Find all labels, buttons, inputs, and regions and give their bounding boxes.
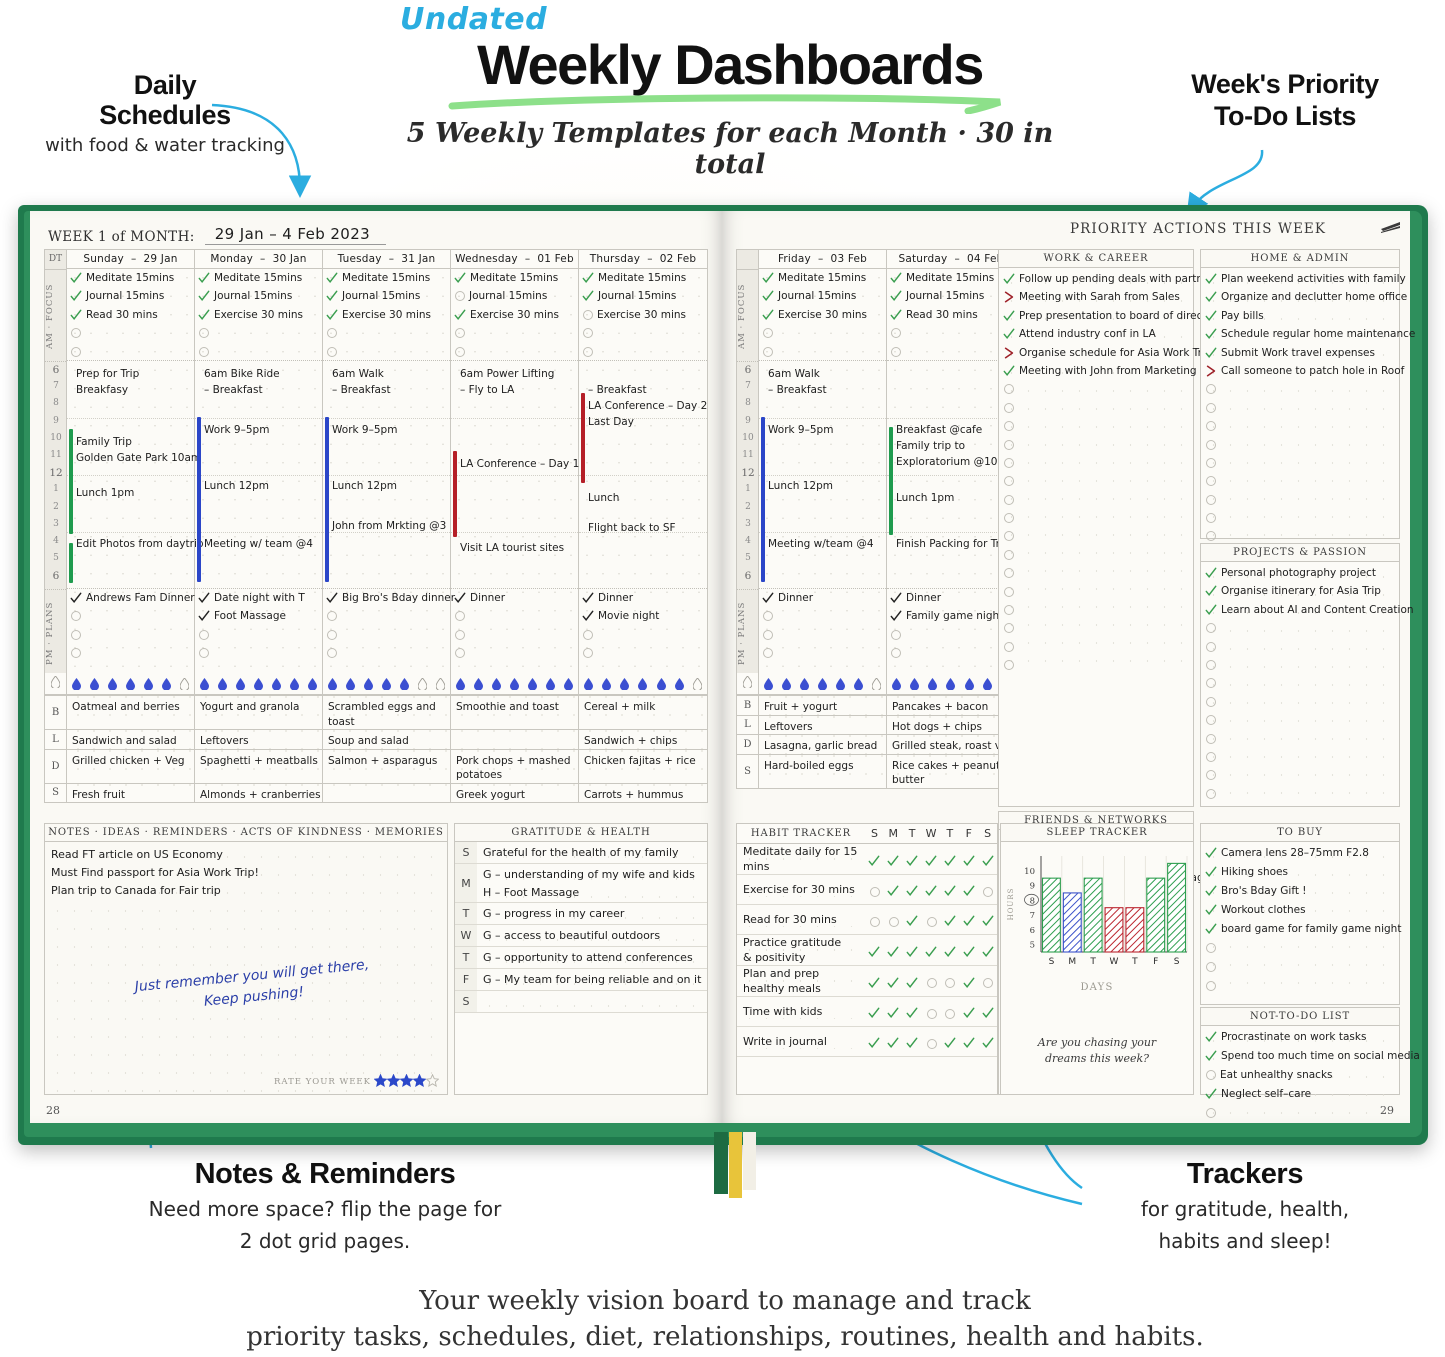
focus-item[interactable]: Journal 15mins bbox=[887, 287, 1015, 305]
empty-checkbox[interactable] bbox=[983, 887, 993, 897]
empty-checkbox[interactable] bbox=[1206, 660, 1216, 670]
empty-checkbox[interactable] bbox=[891, 648, 901, 658]
empty-checkbox[interactable] bbox=[945, 1009, 955, 1019]
gratitude-row[interactable]: W G – access to beautiful outdoors bbox=[455, 925, 707, 947]
water-drop-filled-icon[interactable] bbox=[162, 678, 171, 690]
habit-mark[interactable] bbox=[978, 1034, 997, 1049]
list-item[interactable]: Meeting with Sarah from Sales bbox=[999, 288, 1193, 306]
empty-checkbox[interactable] bbox=[1004, 440, 1014, 450]
list-item[interactable]: Neglect self–care bbox=[1201, 1085, 1399, 1104]
habit-mark[interactable] bbox=[903, 1034, 922, 1049]
habit-mark[interactable] bbox=[865, 943, 884, 958]
meal-cell[interactable]: Scrambled eggs and toast bbox=[323, 696, 451, 729]
habit-mark[interactable] bbox=[978, 912, 997, 927]
plan-item[interactable] bbox=[451, 607, 578, 625]
schedule-event[interactable]: Work 9–5pm bbox=[768, 423, 833, 438]
list-item[interactable] bbox=[1201, 977, 1399, 996]
empty-checkbox[interactable] bbox=[327, 347, 337, 357]
gratitude-text[interactable]: Grateful for the health of my family bbox=[477, 842, 707, 863]
schedule-event[interactable]: – Breakfast bbox=[332, 383, 391, 398]
focus-item[interactable]: Meditate 15mins bbox=[195, 269, 322, 287]
empty-checkbox[interactable] bbox=[583, 630, 593, 640]
list-item[interactable]: Follow up pending deals with partners bbox=[999, 270, 1193, 288]
empty-checkbox[interactable] bbox=[1206, 734, 1216, 744]
not-to-do-box[interactable]: NOT-TO-DO LIST Procrastinate on work tas… bbox=[1200, 1007, 1400, 1095]
empty-checkbox[interactable] bbox=[1004, 623, 1014, 633]
empty-checkbox[interactable] bbox=[1206, 752, 1216, 762]
empty-checkbox[interactable] bbox=[983, 978, 993, 988]
empty-checkbox[interactable] bbox=[1206, 962, 1216, 972]
list-item[interactable] bbox=[999, 472, 1193, 490]
list-item[interactable] bbox=[1201, 958, 1399, 977]
focus-item[interactable]: Journal 15mins bbox=[195, 287, 322, 305]
habit-mark[interactable] bbox=[940, 1034, 959, 1049]
water-drop-filled-icon[interactable] bbox=[602, 678, 611, 690]
empty-checkbox[interactable] bbox=[763, 611, 773, 621]
plan-item[interactable]: Movie night bbox=[579, 607, 707, 625]
empty-checkbox[interactable] bbox=[455, 291, 465, 301]
habit-mark[interactable] bbox=[959, 1004, 978, 1019]
empty-checkbox[interactable] bbox=[1206, 440, 1216, 450]
water-drop-filled-icon[interactable] bbox=[818, 678, 827, 690]
plan-item[interactable] bbox=[579, 626, 707, 644]
empty-checkbox[interactable] bbox=[945, 978, 955, 988]
habit-mark[interactable] bbox=[959, 943, 978, 958]
empty-checkbox[interactable] bbox=[1004, 568, 1014, 578]
rate-your-week[interactable]: RATE YOUR WEEK bbox=[274, 1074, 439, 1090]
list-item[interactable] bbox=[1201, 766, 1399, 784]
empty-checkbox[interactable] bbox=[1004, 495, 1014, 505]
plan-item[interactable] bbox=[67, 626, 194, 644]
empty-checkbox[interactable] bbox=[1206, 770, 1216, 780]
water-drop-empty-icon[interactable] bbox=[872, 678, 881, 690]
list-item[interactable] bbox=[999, 583, 1193, 601]
habit-mark[interactable] bbox=[978, 1004, 997, 1019]
list-item[interactable] bbox=[1201, 939, 1399, 958]
empty-checkbox[interactable] bbox=[1004, 421, 1014, 431]
gratitude-row[interactable]: S bbox=[455, 991, 707, 1013]
meal-cell[interactable]: Rice cakes + peanut butter bbox=[887, 755, 1015, 788]
water-drop-empty-icon[interactable] bbox=[180, 678, 189, 690]
schedule-event[interactable]: Lunch 12pm bbox=[768, 479, 833, 494]
water-drop-filled-icon[interactable] bbox=[564, 678, 573, 690]
focus-item[interactable]: Meditate 15mins bbox=[759, 269, 886, 287]
empty-checkbox[interactable] bbox=[1206, 384, 1216, 394]
focus-item[interactable]: Read 30 mins bbox=[67, 306, 194, 324]
empty-checkbox[interactable] bbox=[327, 328, 337, 338]
habit-mark[interactable] bbox=[884, 913, 903, 927]
habit-mark[interactable] bbox=[903, 852, 922, 867]
list-item[interactable] bbox=[999, 527, 1193, 545]
empty-checkbox[interactable] bbox=[870, 917, 880, 927]
gratitude-text[interactable]: G – access to beautiful outdoors bbox=[477, 925, 707, 946]
gratitude-text[interactable]: G – understanding of my wife and kidsH –… bbox=[477, 864, 707, 902]
focus-item[interactable] bbox=[759, 343, 886, 361]
empty-checkbox[interactable] bbox=[1206, 715, 1216, 725]
water-cell[interactable] bbox=[67, 673, 195, 695]
list-item[interactable] bbox=[1201, 730, 1399, 748]
list-item[interactable] bbox=[999, 454, 1193, 472]
empty-checkbox[interactable] bbox=[763, 630, 773, 640]
list-item[interactable]: Spend too much time on social media bbox=[1201, 1047, 1399, 1066]
meal-cell[interactable]: Soup and salad bbox=[323, 730, 451, 749]
empty-checkbox[interactable] bbox=[327, 630, 337, 640]
water-drop-filled-icon[interactable] bbox=[764, 678, 773, 690]
empty-checkbox[interactable] bbox=[763, 347, 773, 357]
list-item[interactable] bbox=[1201, 491, 1399, 509]
list-item[interactable] bbox=[999, 656, 1193, 674]
list-item[interactable]: Organise schedule for Asia Work Trip bbox=[999, 344, 1193, 362]
list-item[interactable]: Camera lens 28–75mm F2.8 bbox=[1201, 844, 1399, 863]
gratitude-text[interactable]: G – My team for being reliable and on it bbox=[477, 969, 707, 990]
focus-item[interactable] bbox=[323, 343, 450, 361]
focus-item[interactable]: Exercise 30 mins bbox=[323, 306, 450, 324]
schedule-event[interactable]: Lunch bbox=[588, 491, 619, 506]
habit-mark[interactable] bbox=[922, 1035, 941, 1049]
focus-item[interactable]: Meditate 15mins bbox=[323, 269, 450, 287]
empty-checkbox[interactable] bbox=[891, 347, 901, 357]
habit-tracker-box[interactable]: HABIT TRACKER SMTWTFS Meditate daily for… bbox=[736, 823, 998, 1095]
meal-cell[interactable]: Lasagna, garlic bread bbox=[759, 735, 887, 754]
empty-checkbox[interactable] bbox=[1206, 678, 1216, 688]
schedule-event[interactable]: Family trip to bbox=[896, 439, 965, 454]
meal-cell[interactable]: Pancakes + bacon bbox=[887, 696, 1015, 715]
list-item[interactable] bbox=[999, 509, 1193, 527]
water-drop-filled-icon[interactable] bbox=[836, 678, 845, 690]
meal-cell[interactable]: Greek yogurt bbox=[451, 784, 579, 803]
empty-checkbox[interactable] bbox=[327, 648, 337, 658]
water-drop-filled-icon[interactable] bbox=[218, 678, 227, 690]
meal-cell[interactable]: Almonds + cranberries bbox=[195, 784, 323, 803]
schedule-event[interactable]: Edit Photos from daytrip bbox=[76, 537, 204, 552]
water-drop-filled-icon[interactable] bbox=[72, 678, 81, 690]
empty-checkbox[interactable] bbox=[1206, 981, 1216, 991]
plan-item[interactable] bbox=[323, 626, 450, 644]
list-item[interactable]: Plan weekend activities with family bbox=[1201, 270, 1399, 288]
water-cell[interactable] bbox=[759, 673, 887, 695]
meal-cell[interactable] bbox=[323, 784, 451, 803]
meal-cell[interactable]: Leftovers bbox=[759, 716, 887, 735]
water-drop-empty-icon[interactable] bbox=[51, 676, 60, 688]
water-drop-filled-icon[interactable] bbox=[528, 678, 537, 690]
focus-item[interactable] bbox=[579, 324, 707, 342]
focus-item[interactable]: Exercise 30 mins bbox=[451, 306, 578, 324]
empty-checkbox[interactable] bbox=[583, 310, 593, 320]
empty-checkbox[interactable] bbox=[1004, 384, 1014, 394]
plan-item[interactable]: Date night with T bbox=[195, 589, 322, 607]
empty-checkbox[interactable] bbox=[199, 630, 209, 640]
schedule-event[interactable]: Flight back to SF bbox=[588, 521, 676, 536]
habit-mark[interactable] bbox=[922, 882, 941, 897]
empty-checkbox[interactable] bbox=[763, 328, 773, 338]
list-item[interactable] bbox=[999, 491, 1193, 509]
habit-mark[interactable] bbox=[903, 912, 922, 927]
plan-item[interactable]: Andrews Fam Dinner bbox=[67, 589, 194, 607]
gratitude-row[interactable]: F G – My team for being reliable and on … bbox=[455, 969, 707, 991]
star-icon[interactable] bbox=[413, 1074, 426, 1087]
habit-mark[interactable] bbox=[865, 1034, 884, 1049]
empty-checkbox[interactable] bbox=[1004, 587, 1014, 597]
habit-mark[interactable] bbox=[959, 912, 978, 927]
habit-mark[interactable] bbox=[940, 943, 959, 958]
note-line[interactable]: Plan trip to Canada for Fair trip bbox=[45, 882, 447, 900]
habit-mark[interactable] bbox=[922, 1005, 941, 1019]
empty-checkbox[interactable] bbox=[1206, 697, 1216, 707]
list-item[interactable] bbox=[1201, 454, 1399, 472]
schedule-event[interactable]: Lunch 1pm bbox=[896, 491, 954, 506]
empty-checkbox[interactable] bbox=[455, 611, 465, 621]
list-item[interactable] bbox=[999, 436, 1193, 454]
empty-checkbox[interactable] bbox=[891, 328, 901, 338]
gratitude-row[interactable]: M G – understanding of my wife and kidsH… bbox=[455, 864, 707, 903]
water-drop-filled-icon[interactable] bbox=[910, 678, 919, 690]
water-cell[interactable] bbox=[579, 673, 707, 695]
schedule-event[interactable]: Lunch 12pm bbox=[332, 479, 397, 494]
list-item[interactable]: board game for family game night bbox=[1201, 920, 1399, 939]
list-item[interactable] bbox=[1201, 509, 1399, 527]
list-item[interactable]: Hiking shoes bbox=[1201, 863, 1399, 882]
focus-item[interactable] bbox=[579, 343, 707, 361]
empty-checkbox[interactable] bbox=[327, 611, 337, 621]
focus-item[interactable]: Read 30 mins bbox=[887, 306, 1015, 324]
water-drop-empty-icon[interactable] bbox=[436, 678, 445, 690]
list-item[interactable] bbox=[999, 546, 1193, 564]
plan-item[interactable]: Dinner bbox=[451, 589, 578, 607]
focus-item[interactable] bbox=[759, 324, 886, 342]
list-item[interactable] bbox=[1201, 472, 1399, 490]
list-item[interactable] bbox=[1201, 380, 1399, 398]
focus-item[interactable]: Journal 15mins bbox=[323, 287, 450, 305]
plan-item[interactable] bbox=[451, 626, 578, 644]
empty-checkbox[interactable] bbox=[455, 347, 465, 357]
plan-item[interactable] bbox=[323, 644, 450, 662]
habit-mark[interactable] bbox=[865, 883, 884, 897]
focus-item[interactable] bbox=[451, 324, 578, 342]
plan-item[interactable] bbox=[67, 644, 194, 662]
list-item[interactable]: Schedule regular home maintenance bbox=[1201, 325, 1399, 343]
list-item[interactable] bbox=[1201, 785, 1399, 803]
gratitude-row[interactable]: S Grateful for the health of my family bbox=[455, 842, 707, 864]
habit-mark[interactable] bbox=[959, 882, 978, 897]
empty-checkbox[interactable] bbox=[1206, 943, 1216, 953]
water-drop-filled-icon[interactable] bbox=[290, 678, 299, 690]
plan-item[interactable]: Dinner bbox=[887, 589, 1015, 607]
list-item[interactable]: Eat unhealthy snacks bbox=[1201, 1066, 1399, 1085]
schedule-event[interactable]: 6am Power Lifting bbox=[460, 367, 554, 382]
habit-mark[interactable] bbox=[865, 852, 884, 867]
habit-mark[interactable] bbox=[922, 913, 941, 927]
water-cell[interactable] bbox=[323, 673, 451, 695]
meal-cell[interactable] bbox=[451, 730, 579, 749]
focus-item[interactable]: Exercise 30 mins bbox=[759, 306, 886, 324]
water-drop-filled-icon[interactable] bbox=[346, 678, 355, 690]
schedule-event[interactable]: Prep for Trip bbox=[76, 367, 139, 382]
plan-item[interactable] bbox=[759, 626, 886, 644]
schedule-event[interactable]: 6am Bike Ride bbox=[204, 367, 280, 382]
list-item[interactable]: Attend industry conf in LA bbox=[999, 325, 1193, 343]
water-drop-filled-icon[interactable] bbox=[474, 678, 483, 690]
focus-item[interactable]: Journal 15mins bbox=[451, 287, 578, 305]
empty-checkbox[interactable] bbox=[927, 1009, 937, 1019]
plan-item[interactable] bbox=[195, 644, 322, 662]
habit-mark[interactable] bbox=[884, 882, 903, 897]
list-item[interactable]: Bro's Bday Gift ! bbox=[1201, 882, 1399, 901]
habit-mark[interactable] bbox=[903, 974, 922, 989]
habit-mark[interactable] bbox=[940, 912, 959, 927]
water-drop-filled-icon[interactable] bbox=[400, 678, 409, 690]
habit-mark[interactable] bbox=[903, 943, 922, 958]
meal-cell[interactable]: Fresh fruit bbox=[67, 784, 195, 803]
meal-cell[interactable]: Cereal + milk bbox=[579, 696, 707, 729]
empty-checkbox[interactable] bbox=[71, 611, 81, 621]
list-item[interactable] bbox=[1201, 436, 1399, 454]
water-drop-filled-icon[interactable] bbox=[675, 678, 684, 690]
schedule-event[interactable]: Golden Gate Park 10am bbox=[76, 451, 201, 466]
list-item[interactable] bbox=[1201, 693, 1399, 711]
focus-item[interactable]: Meditate 15mins bbox=[887, 269, 1015, 287]
empty-checkbox[interactable] bbox=[927, 1039, 937, 1049]
water-drop-filled-icon[interactable] bbox=[200, 678, 209, 690]
focus-item[interactable] bbox=[195, 343, 322, 361]
habit-mark[interactable] bbox=[884, 1034, 903, 1049]
list-item[interactable]: Prep presentation to board of directors bbox=[999, 307, 1193, 325]
schedule-event[interactable]: Exploratorium @10am bbox=[896, 455, 1014, 470]
empty-checkbox[interactable] bbox=[1206, 1070, 1216, 1080]
schedule-event[interactable]: Lunch 1pm bbox=[76, 486, 134, 501]
empty-checkbox[interactable] bbox=[583, 648, 593, 658]
plan-item[interactable] bbox=[67, 607, 194, 625]
schedule-event[interactable]: Breakfasy bbox=[76, 383, 128, 398]
habit-mark[interactable] bbox=[940, 974, 959, 988]
empty-checkbox[interactable] bbox=[927, 917, 937, 927]
empty-checkbox[interactable] bbox=[455, 648, 465, 658]
habit-mark[interactable] bbox=[865, 974, 884, 989]
meal-cell[interactable]: Hot dogs + chips bbox=[887, 716, 1015, 735]
empty-checkbox[interactable] bbox=[71, 328, 81, 338]
habit-mark[interactable] bbox=[940, 852, 959, 867]
water-drop-empty-icon[interactable] bbox=[743, 676, 752, 688]
list-item[interactable] bbox=[1201, 748, 1399, 766]
water-cell[interactable] bbox=[887, 673, 1015, 695]
schedule-event[interactable]: Finish Packing for Trip bbox=[896, 537, 1010, 552]
empty-checkbox[interactable] bbox=[1004, 458, 1014, 468]
habit-mark[interactable] bbox=[922, 974, 941, 988]
schedule-event[interactable]: John from Mrkting @3 bbox=[332, 519, 446, 534]
habit-mark[interactable] bbox=[884, 1004, 903, 1019]
focus-item[interactable]: Meditate 15mins bbox=[451, 269, 578, 287]
water-drop-filled-icon[interactable] bbox=[928, 678, 937, 690]
water-drop-filled-icon[interactable] bbox=[892, 678, 901, 690]
focus-item[interactable] bbox=[451, 343, 578, 361]
schedule-event[interactable]: – Breakfast bbox=[768, 383, 827, 398]
empty-checkbox[interactable] bbox=[1206, 623, 1216, 633]
list-item[interactable] bbox=[1201, 399, 1399, 417]
habit-mark[interactable] bbox=[978, 974, 997, 988]
water-drop-filled-icon[interactable] bbox=[946, 678, 955, 690]
empty-checkbox[interactable] bbox=[1206, 495, 1216, 505]
list-item[interactable] bbox=[1201, 656, 1399, 674]
week-date-range[interactable]: 29 Jan – 4 Feb 2023 bbox=[205, 225, 386, 245]
habit-mark[interactable] bbox=[884, 852, 903, 867]
water-drop-filled-icon[interactable] bbox=[364, 678, 373, 690]
plan-item[interactable]: Foot Massage bbox=[195, 607, 322, 625]
water-drop-filled-icon[interactable] bbox=[638, 678, 647, 690]
empty-checkbox[interactable] bbox=[199, 648, 209, 658]
water-drop-filled-icon[interactable] bbox=[983, 678, 992, 690]
empty-checkbox[interactable] bbox=[763, 648, 773, 658]
notes-box[interactable]: NOTES · IDEAS · REMINDERS · ACTS OF KIND… bbox=[44, 823, 448, 1095]
empty-checkbox[interactable] bbox=[891, 630, 901, 640]
empty-checkbox[interactable] bbox=[1004, 550, 1014, 560]
schedule-event[interactable]: 6am Walk bbox=[768, 367, 820, 382]
empty-checkbox[interactable] bbox=[1206, 642, 1216, 652]
empty-checkbox[interactable] bbox=[1206, 513, 1216, 523]
empty-checkbox[interactable] bbox=[1004, 660, 1014, 670]
home-admin-box[interactable]: HOME & ADMIN Plan weekend activities wit… bbox=[1200, 249, 1400, 539]
focus-item[interactable]: Journal 15mins bbox=[579, 287, 707, 305]
sleep-tracker-box[interactable]: SLEEP TRACKER HOURS5678910 SMTWTFS DAYS … bbox=[1000, 823, 1194, 1095]
water-drop-filled-icon[interactable] bbox=[254, 678, 263, 690]
empty-checkbox[interactable] bbox=[889, 917, 899, 927]
list-item[interactable]: Call someone to patch hole in Roof bbox=[1201, 362, 1399, 380]
water-drop-filled-icon[interactable] bbox=[965, 678, 974, 690]
schedule-event[interactable]: LA Conference – Day 2 bbox=[588, 399, 707, 414]
schedule-event[interactable]: – Breakfast bbox=[588, 383, 647, 398]
water-drop-filled-icon[interactable] bbox=[584, 678, 593, 690]
list-item[interactable] bbox=[999, 638, 1193, 656]
empty-checkbox[interactable] bbox=[199, 347, 209, 357]
empty-checkbox[interactable] bbox=[1206, 458, 1216, 468]
meal-cell[interactable]: Chicken fajitas + rice bbox=[579, 750, 707, 783]
meal-cell[interactable]: Fruit + yogurt bbox=[759, 696, 887, 715]
water-drop-filled-icon[interactable] bbox=[800, 678, 809, 690]
water-drop-filled-icon[interactable] bbox=[382, 678, 391, 690]
habit-mark[interactable] bbox=[959, 852, 978, 867]
water-drop-filled-icon[interactable] bbox=[126, 678, 135, 690]
plan-item[interactable] bbox=[451, 644, 578, 662]
schedule-event[interactable]: Meeting w/team @4 bbox=[768, 537, 874, 552]
water-cell[interactable] bbox=[195, 673, 323, 695]
list-item[interactable] bbox=[1201, 711, 1399, 729]
meal-cell[interactable]: Yogurt and granola bbox=[195, 696, 323, 729]
gratitude-text[interactable]: G – progress in my career bbox=[477, 903, 707, 924]
plan-item[interactable] bbox=[759, 644, 886, 662]
water-drop-filled-icon[interactable] bbox=[620, 678, 629, 690]
focus-item[interactable] bbox=[67, 343, 194, 361]
schedule-event[interactable]: 6am Walk bbox=[332, 367, 384, 382]
meal-cell[interactable]: Salmon + asparagus bbox=[323, 750, 451, 783]
plan-item[interactable] bbox=[579, 644, 707, 662]
plan-item[interactable]: Dinner bbox=[759, 589, 886, 607]
list-item[interactable] bbox=[999, 417, 1193, 435]
star-rating[interactable] bbox=[374, 1074, 439, 1090]
schedule-event[interactable]: – Fly to LA bbox=[460, 383, 514, 398]
focus-item[interactable]: Meditate 15mins bbox=[67, 269, 194, 287]
empty-checkbox[interactable] bbox=[1004, 642, 1014, 652]
water-drop-empty-icon[interactable] bbox=[418, 678, 427, 690]
meal-cell[interactable]: Hard-boiled eggs bbox=[759, 755, 887, 788]
focus-item[interactable]: Exercise 30 mins bbox=[195, 306, 322, 324]
habit-mark[interactable] bbox=[978, 852, 997, 867]
empty-checkbox[interactable] bbox=[583, 347, 593, 357]
list-item[interactable]: Personal photography project bbox=[1201, 564, 1399, 582]
list-item[interactable]: Meeting with John from Marketing bbox=[999, 362, 1193, 380]
water-drop-filled-icon[interactable] bbox=[657, 678, 666, 690]
plan-item[interactable] bbox=[887, 644, 1015, 662]
schedule-event[interactable]: Lunch 12pm bbox=[204, 479, 269, 494]
to-buy-box[interactable]: TO BUY Camera lens 28–75mm F2.8Hiking sh… bbox=[1200, 823, 1400, 1005]
habit-mark[interactable] bbox=[959, 974, 978, 989]
